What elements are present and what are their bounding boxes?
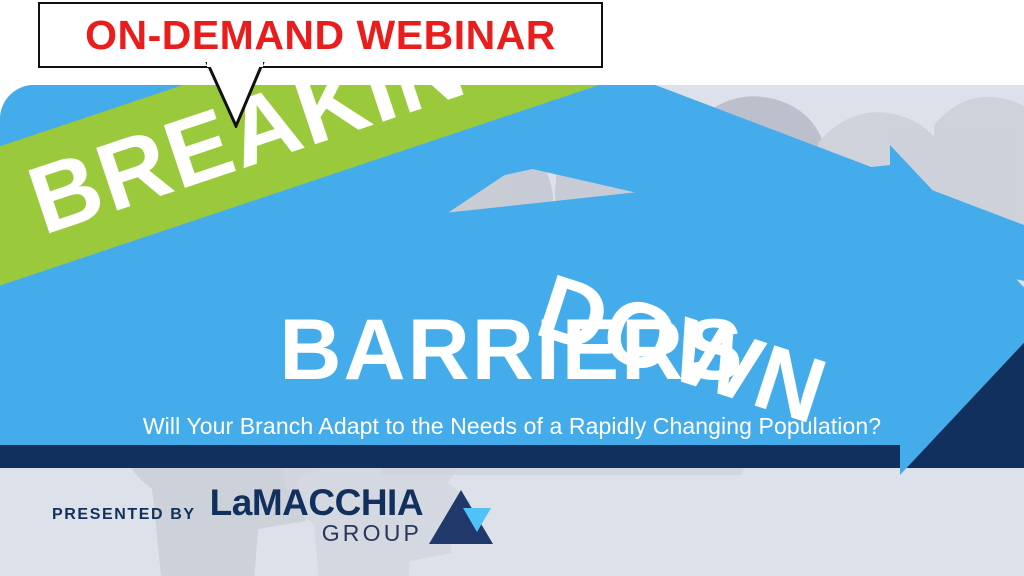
on-demand-webinar-callout: ON-DEMAND WEBINAR (38, 2, 603, 68)
subtitle-text: Will Your Branch Adapt to the Needs of a… (0, 415, 1024, 438)
headline-barriers: BARRIERS (0, 307, 1024, 393)
callout-label: ON-DEMAND WEBINAR (85, 15, 556, 56)
webinar-promo-banner: BREAKING DOWN BARRIERS Will Your Branch … (0, 0, 1024, 576)
promo-card: BREAKING DOWN BARRIERS Will Your Branch … (0, 85, 1024, 576)
presented-by-label: PRESENTED BY (52, 507, 196, 523)
logo-brand-secondary: GROUP (322, 522, 422, 545)
callout-tail-pointer (205, 62, 265, 128)
lamacchia-triangle-icon (429, 490, 493, 544)
logo-wordmark: LaMACCHIA GROUP (210, 485, 423, 545)
presenter-row: PRESENTED BY LaMACCHIA GROUP (52, 485, 493, 545)
logo-brand-primary: LaMACCHIA (210, 485, 423, 521)
lamacchia-group-logo: LaMACCHIA GROUP (210, 485, 493, 545)
